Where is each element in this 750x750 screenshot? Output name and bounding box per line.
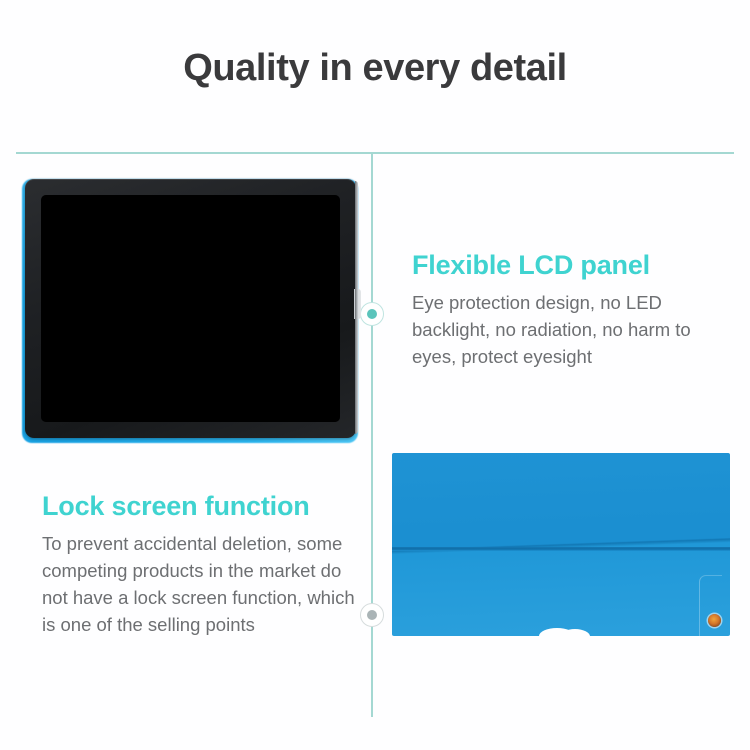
vertical-divider	[371, 152, 373, 717]
feature-body: To prevent accidental deletion, some com…	[42, 530, 358, 639]
tablet-back-cover-image	[392, 453, 730, 636]
cover-camera-icon	[708, 614, 721, 627]
node-dot	[367, 309, 377, 319]
cover-seam-line	[392, 547, 730, 551]
tablet-frame	[25, 179, 356, 438]
horizontal-divider	[16, 152, 734, 154]
timeline-node-gray-icon	[360, 603, 384, 627]
feature-heading: Lock screen function	[42, 491, 358, 523]
tablet-side-button-icon	[354, 289, 361, 319]
feature-heading: Flexible LCD panel	[412, 250, 724, 282]
product-feature-page: Quality in every detail Flexible LCD pan…	[0, 0, 750, 750]
node-dot	[367, 610, 377, 620]
cover-flap-edge	[699, 575, 722, 636]
timeline-node-teal-icon	[360, 302, 384, 326]
feature-block-flexible-lcd-panel: Flexible LCD panel Eye protection design…	[412, 250, 724, 370]
tablet-screen	[41, 195, 340, 422]
tablet-front-image	[22, 179, 358, 443]
page-title: Quality in every detail	[0, 46, 750, 92]
cover-surface	[392, 453, 730, 636]
feature-body: Eye protection design, no LED backlight,…	[412, 289, 724, 371]
feature-block-lock-screen-function: Lock screen function To prevent accident…	[42, 491, 358, 639]
